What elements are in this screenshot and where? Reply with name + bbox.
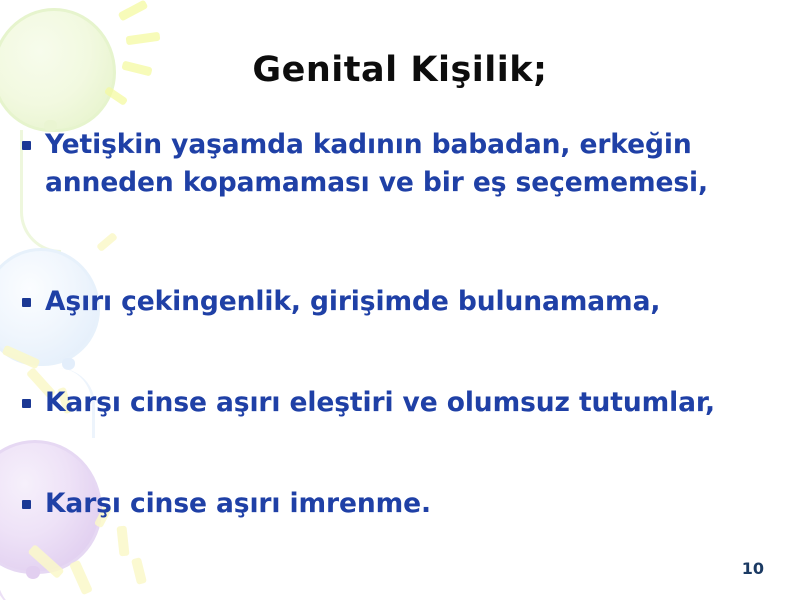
list-item: Yetişkin yaşamda kadının babadan, erkeği… xyxy=(22,126,708,201)
page-title: Genital Kişilik; xyxy=(0,50,800,90)
bullet-marker-icon xyxy=(22,399,31,408)
list-item-line: Karşı cinse aşırı imrenme. xyxy=(45,488,431,519)
list-item-line: Aşırı çekingenlik, girişimde bulunamama, xyxy=(45,286,660,317)
list-item-line: anneden kopamaması ve bir eş seçememesi, xyxy=(45,167,708,198)
list-item-text: Karşı cinse aşırı imrenme. xyxy=(45,485,431,523)
bullet-marker-icon xyxy=(22,298,31,307)
list-item: Karşı cinse aşırı eleştiri ve olumsuz tu… xyxy=(22,384,715,422)
list-item: Aşırı çekingenlik, girişimde bulunamama, xyxy=(22,283,660,321)
presentation-slide: Genital Kişilik; Yetişkin yaşamda kadını… xyxy=(0,0,800,600)
list-item-text: Aşırı çekingenlik, girişimde bulunamama, xyxy=(45,283,660,321)
list-item-line: Yetişkin yaşamda kadının babadan, erkeği… xyxy=(45,129,692,160)
page-number: 10 xyxy=(742,559,764,578)
slide-content: Genital Kişilik; Yetişkin yaşamda kadını… xyxy=(0,0,800,600)
list-item-line: Karşı cinse aşırı eleştiri ve olumsuz tu… xyxy=(45,387,715,418)
bullet-marker-icon xyxy=(22,500,31,509)
bullet-marker-icon xyxy=(22,141,31,150)
list-item-text: Yetişkin yaşamda kadının babadan, erkeği… xyxy=(45,126,708,201)
list-item: Karşı cinse aşırı imrenme. xyxy=(22,485,431,523)
list-item-text: Karşı cinse aşırı eleştiri ve olumsuz tu… xyxy=(45,384,715,422)
